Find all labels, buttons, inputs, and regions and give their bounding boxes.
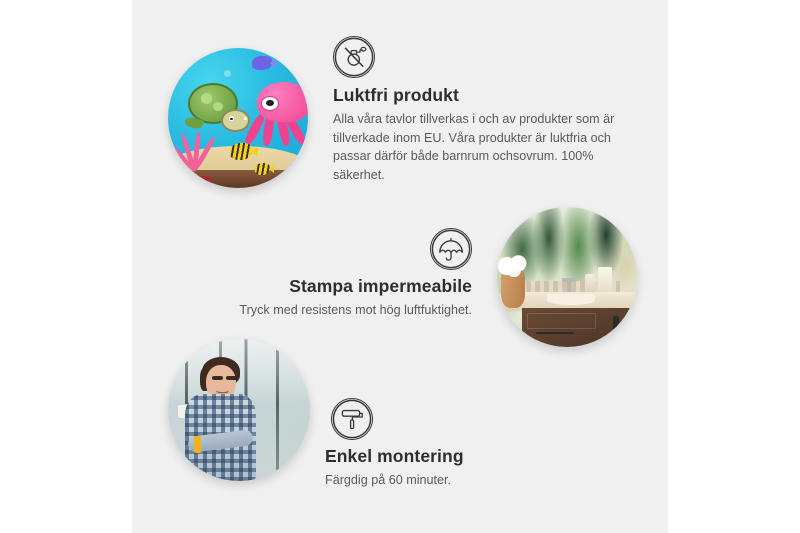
feature-icon-wrap xyxy=(333,36,623,78)
sea-turtle xyxy=(185,83,247,131)
image-bathroom-botanical-wallpaper xyxy=(497,207,637,347)
sea-floor xyxy=(168,170,308,188)
vanity-cabinet xyxy=(522,308,634,347)
sink-basin xyxy=(547,294,595,305)
feature-icon-wrap xyxy=(210,228,472,270)
feature-description: Tryck med resistens mot hög luftfuktighe… xyxy=(210,301,472,320)
feature-title: Stampa impermeabile xyxy=(210,276,472,297)
no-fragrance-icon xyxy=(333,36,375,78)
paint-roller-icon xyxy=(331,398,373,440)
woman-eye xyxy=(212,376,223,380)
feature-description: Färgdig på 60 minuter. xyxy=(325,471,575,490)
coral-pink xyxy=(174,132,219,171)
feature-title: Luktfri produkt xyxy=(333,85,623,106)
umbrella-icon xyxy=(430,228,472,270)
toiletry-bottle xyxy=(585,274,595,294)
image-woman-painter-forest-wallpaper xyxy=(168,339,310,481)
feature-block-easy-assembly: Enkel montering Färgdig på 60 minuter. xyxy=(325,398,575,490)
feature-title: Enkel montering xyxy=(325,446,575,467)
toiletry-bottle xyxy=(598,267,612,294)
woman-eye xyxy=(226,376,237,380)
paint-roller-grip xyxy=(194,436,201,453)
product-feature-banner: Luktfri produkt Alla våra tavlor tillver… xyxy=(0,0,800,533)
image-underwater-kids-mural xyxy=(168,48,308,188)
feature-block-odorless: Luktfri produkt Alla våra tavlor tillver… xyxy=(333,36,623,185)
feature-icon-wrap xyxy=(325,398,575,440)
feature-description: Alla våra tavlor tillverkas i och av pro… xyxy=(333,110,623,185)
feature-block-waterproof: Stampa impermeabile Tryck med resistens … xyxy=(210,228,472,320)
white-flowers xyxy=(497,255,532,277)
octopus-pink xyxy=(246,82,308,146)
fish-yellow xyxy=(230,143,252,160)
